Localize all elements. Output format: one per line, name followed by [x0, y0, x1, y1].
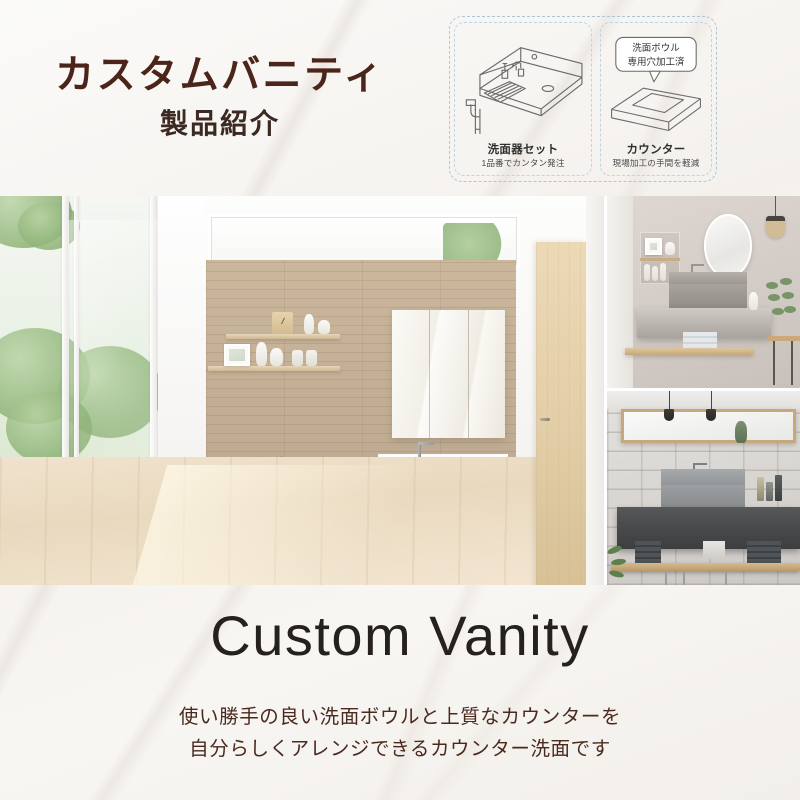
- pendant-light-right: [706, 409, 716, 421]
- photo-grey-stone-vanity: [607, 196, 800, 388]
- door-handle: [540, 418, 550, 421]
- room-door: [536, 242, 586, 585]
- wood-shelf: [611, 563, 800, 571]
- callout-line-1: 洗面ボウル: [632, 42, 680, 54]
- decor-vase-4: [270, 348, 283, 366]
- niche-picture-frame: [645, 238, 662, 255]
- side-table: [768, 336, 800, 388]
- diagram-panel-washbasin-set: 洗面器セット 1品番でカンタン発注: [454, 22, 592, 176]
- niche-bottle-3: [660, 263, 666, 281]
- decor-vase-2: [318, 320, 330, 334]
- decor-vase-1: [304, 314, 314, 334]
- shelf-item-left: [635, 541, 661, 563]
- photo-laundry-vanity-room: [0, 196, 604, 585]
- soap-dispenser: [749, 292, 758, 310]
- counter-note: 現場加工の手間を軽減: [613, 159, 700, 168]
- page-subtitle: 製品紹介: [0, 110, 440, 138]
- niche-plant: [665, 242, 675, 255]
- photo-band: [0, 196, 800, 585]
- counter-label: カウンター: [627, 145, 686, 157]
- pendant-light: [766, 216, 785, 238]
- page-title: カスタムバニティ: [0, 56, 440, 95]
- heading-zone: カスタムバニティ 製品紹介: [0, 0, 440, 196]
- diagram-panel-counter: 洗面ボウル 専用穴加工済 カウンター 現場加工の手間を軽減: [600, 22, 712, 176]
- footer-tagline: 使い勝手の良い洗面ボウルと上質なカウンターを 自分らしくアレンジできるカウンター…: [0, 702, 800, 765]
- picture-frame: [224, 344, 250, 366]
- mirror-cabinet: [392, 310, 505, 438]
- wood-under-shelf: [625, 348, 753, 355]
- shelf-towels-right: [747, 541, 781, 563]
- oval-mirror: [704, 214, 752, 278]
- wall-shelf-upper: [226, 334, 340, 339]
- tagline-line-2: 自分らしくアレンジできるカウンター洗面です: [0, 734, 800, 766]
- washbasin-set-icon: [455, 23, 591, 145]
- decor-jar-1: [292, 350, 303, 366]
- wall-clock: [272, 312, 293, 334]
- product-diagram: 洗面器セット 1品番でカンタン発注 洗面ボウル 専用穴加工済: [449, 16, 717, 182]
- decor-jar-2: [306, 350, 317, 366]
- washbasin-set-note: 1品番でカンタン発注: [481, 159, 564, 168]
- tagline-line-1: 使い勝手の良い洗面ボウルと上質なカウンターを: [0, 702, 800, 734]
- shelf-basket: [703, 541, 725, 559]
- floor-plant: [607, 541, 637, 585]
- photo-charcoal-vanity: [607, 391, 800, 585]
- counter-icon: 洗面ボウル 専用穴加工済: [601, 23, 711, 145]
- callout-line-2: 専用穴加工済: [627, 56, 685, 68]
- amenity-bottles: [757, 475, 783, 501]
- mirror-plant: [735, 421, 747, 443]
- pendant-light-left: [664, 409, 674, 421]
- washbasin-set-label: 洗面器セット: [488, 145, 559, 157]
- footer-title: Custom Vanity: [0, 608, 800, 664]
- niche-bottle-2: [652, 266, 658, 281]
- decor-vase-3: [256, 342, 267, 366]
- niche-bottle-1: [644, 264, 650, 281]
- wall-shelf-lower: [208, 366, 340, 371]
- poster-background: カスタムバニティ 製品紹介: [0, 0, 800, 800]
- shelf-towels: [683, 332, 717, 348]
